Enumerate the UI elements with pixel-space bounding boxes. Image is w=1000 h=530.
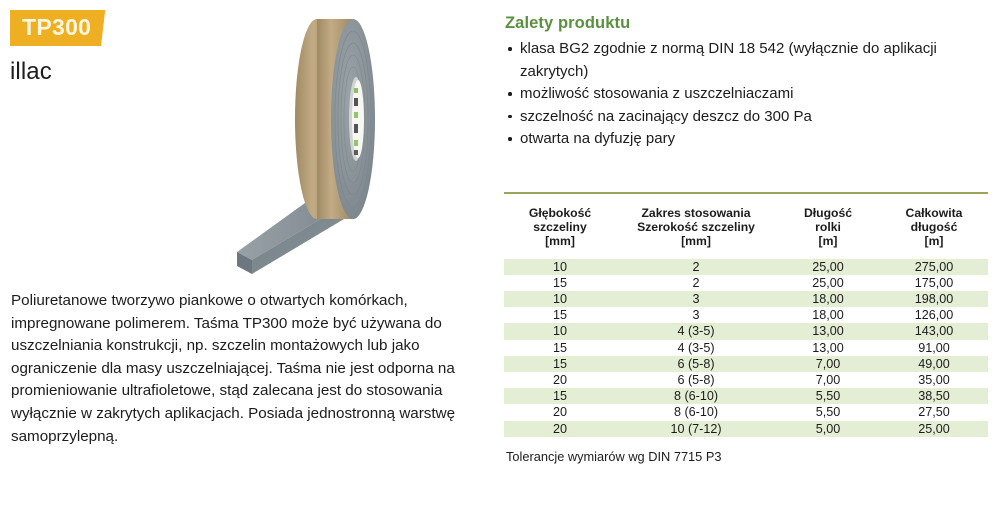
product-code-label: TP300 — [22, 14, 91, 40]
table-row: 15225,00175,00 — [504, 275, 988, 291]
column-header-line: Długość — [778, 206, 878, 220]
table-cell: 25,00 — [776, 275, 880, 291]
column-header-line: Szerokość szczeliny — [618, 220, 774, 234]
bullet-icon — [508, 115, 512, 119]
table-header: Głębokość szczeliny [mm] Zakres stosowan… — [504, 206, 988, 259]
benefit-item: szczelność na zacinający deszcz do 300 P… — [505, 106, 997, 129]
benefit-item: otwarta na dyfuzję pary — [505, 128, 997, 151]
column-header-unit: [mm] — [506, 234, 614, 248]
column-header-line: szczeliny — [506, 220, 614, 234]
column-header-line: Zakres stosowania — [618, 206, 774, 220]
table-cell: 5,50 — [776, 388, 880, 404]
table-cell: 20 — [504, 372, 616, 388]
table-cell: 3 — [616, 307, 776, 323]
table-cell: 4 (3-5) — [616, 323, 776, 339]
table-cell: 15 — [504, 356, 616, 372]
product-code-badge: TP300 — [10, 10, 105, 46]
benefit-item: możliwość stosowania z uszczelniaczami — [505, 83, 997, 106]
table-row: 15318,00126,00 — [504, 307, 988, 323]
table-cell: 10 — [504, 259, 616, 275]
table-note: Tolerancje wymiarów wg DIN 7715 P3 — [504, 449, 992, 464]
bullet-icon — [508, 47, 512, 51]
table-cell: 10 — [504, 291, 616, 307]
table-cell: 13,00 — [776, 340, 880, 356]
table-row: 2010 (7-12)5,0025,00 — [504, 421, 988, 437]
column-header-total-length: Całkowita długość [m] — [880, 206, 988, 259]
table-cell: 10 — [504, 323, 616, 339]
table-cell: 6 (5-8) — [616, 372, 776, 388]
table-row: 104 (3-5)13,00143,00 — [504, 323, 988, 339]
table-cell: 15 — [504, 307, 616, 323]
table-row: 158 (6-10)5,5038,50 — [504, 388, 988, 404]
table-cell: 2 — [616, 259, 776, 275]
table-body: 10225,00275,0015225,00175,0010318,00198,… — [504, 259, 988, 437]
table-cell: 8 (6-10) — [616, 388, 776, 404]
column-header-line: długość — [882, 220, 986, 234]
right-column: Zalety produktu klasa BG2 zgodnie z norm… — [496, 0, 1000, 530]
table-cell: 20 — [504, 421, 616, 437]
product-benefits-title: Zalety produktu — [505, 14, 997, 33]
specification-table-block: Głębokość szczeliny [mm] Zakres stosowan… — [504, 192, 992, 464]
table-cell: 15 — [504, 340, 616, 356]
table-cell: 198,00 — [880, 291, 988, 307]
column-header-unit: [m] — [778, 234, 878, 248]
table-cell: 91,00 — [880, 340, 988, 356]
column-header-roll-length: Długość rolki [m] — [776, 206, 880, 259]
table-cell: 38,50 — [880, 388, 988, 404]
product-datasheet-page: TP300 illac Poliuretanowe tworzywo piank… — [0, 0, 1000, 530]
table-cell: 13,00 — [776, 323, 880, 339]
table-cell: 49,00 — [880, 356, 988, 372]
table-cell: 6 (5-8) — [616, 356, 776, 372]
table-cell: 18,00 — [776, 307, 880, 323]
benefit-item-label: otwarta na dyfuzję pary — [520, 130, 675, 147]
table-cell: 7,00 — [776, 372, 880, 388]
table-cell: 275,00 — [880, 259, 988, 275]
benefit-item-label: szczelność na zacinający deszcz do 300 P… — [520, 108, 812, 125]
table-cell: 126,00 — [880, 307, 988, 323]
table-cell: 5,50 — [776, 404, 880, 420]
table-cell: 35,00 — [880, 372, 988, 388]
table-cell: 175,00 — [880, 275, 988, 291]
column-header-unit: [mm] — [618, 234, 774, 248]
table-header-row: Głębokość szczeliny [mm] Zakres stosowan… — [504, 206, 988, 259]
table-cell: 5,00 — [776, 421, 880, 437]
specification-table: Głębokość szczeliny [mm] Zakres stosowan… — [504, 206, 988, 437]
table-cell: 8 (6-10) — [616, 404, 776, 420]
table-row: 156 (5-8)7,0049,00 — [504, 356, 988, 372]
table-cell: 4 (3-5) — [616, 340, 776, 356]
table-row: 208 (6-10)5,5027,50 — [504, 404, 988, 420]
table-cell: 15 — [504, 275, 616, 291]
table-cell: 10 (7-12) — [616, 421, 776, 437]
table-cell: 2 — [616, 275, 776, 291]
column-header-line: rolki — [778, 220, 878, 234]
product-description-text: Poliuretanowe tworzywo piankowe o otwart… — [11, 290, 489, 448]
product-photo — [186, 2, 486, 282]
column-header-unit: [m] — [882, 234, 986, 248]
table-row: 154 (3-5)13,0091,00 — [504, 340, 988, 356]
column-header-line: Całkowita — [882, 206, 986, 220]
table-cell: 3 — [616, 291, 776, 307]
table-row: 206 (5-8)7,0035,00 — [504, 372, 988, 388]
column-header-gap-width-range: Zakres stosowania Szerokość szczeliny [m… — [616, 206, 776, 259]
table-cell: 25,00 — [776, 259, 880, 275]
column-header-gap-depth: Głębokość szczeliny [mm] — [504, 206, 616, 259]
table-cell: 18,00 — [776, 291, 880, 307]
product-description-block: Poliuretanowe tworzywo piankowe o otwart… — [11, 290, 489, 448]
table-cell: 7,00 — [776, 356, 880, 372]
table-cell: 25,00 — [880, 421, 988, 437]
table-cell: 143,00 — [880, 323, 988, 339]
table-row: 10225,00275,00 — [504, 259, 988, 275]
bullet-icon — [508, 92, 512, 96]
bullet-icon — [508, 137, 512, 141]
table-top-rule — [504, 192, 988, 194]
benefit-item: klasa BG2 zgodnie z normą DIN 18 542 (wy… — [505, 38, 997, 83]
table-row: 10318,00198,00 — [504, 291, 988, 307]
benefit-item-label: klasa BG2 zgodnie z normą DIN 18 542 (wy… — [520, 40, 937, 80]
benefit-item-label: możliwość stosowania z uszczelniaczami — [520, 85, 793, 102]
tape-roll-illustration — [186, 2, 486, 282]
column-header-line: Głębokość — [506, 206, 614, 220]
table-cell: 27,50 — [880, 404, 988, 420]
product-benefits-block: Zalety produktu klasa BG2 zgodnie z norm… — [505, 14, 997, 151]
table-cell: 15 — [504, 388, 616, 404]
table-cell: 20 — [504, 404, 616, 420]
